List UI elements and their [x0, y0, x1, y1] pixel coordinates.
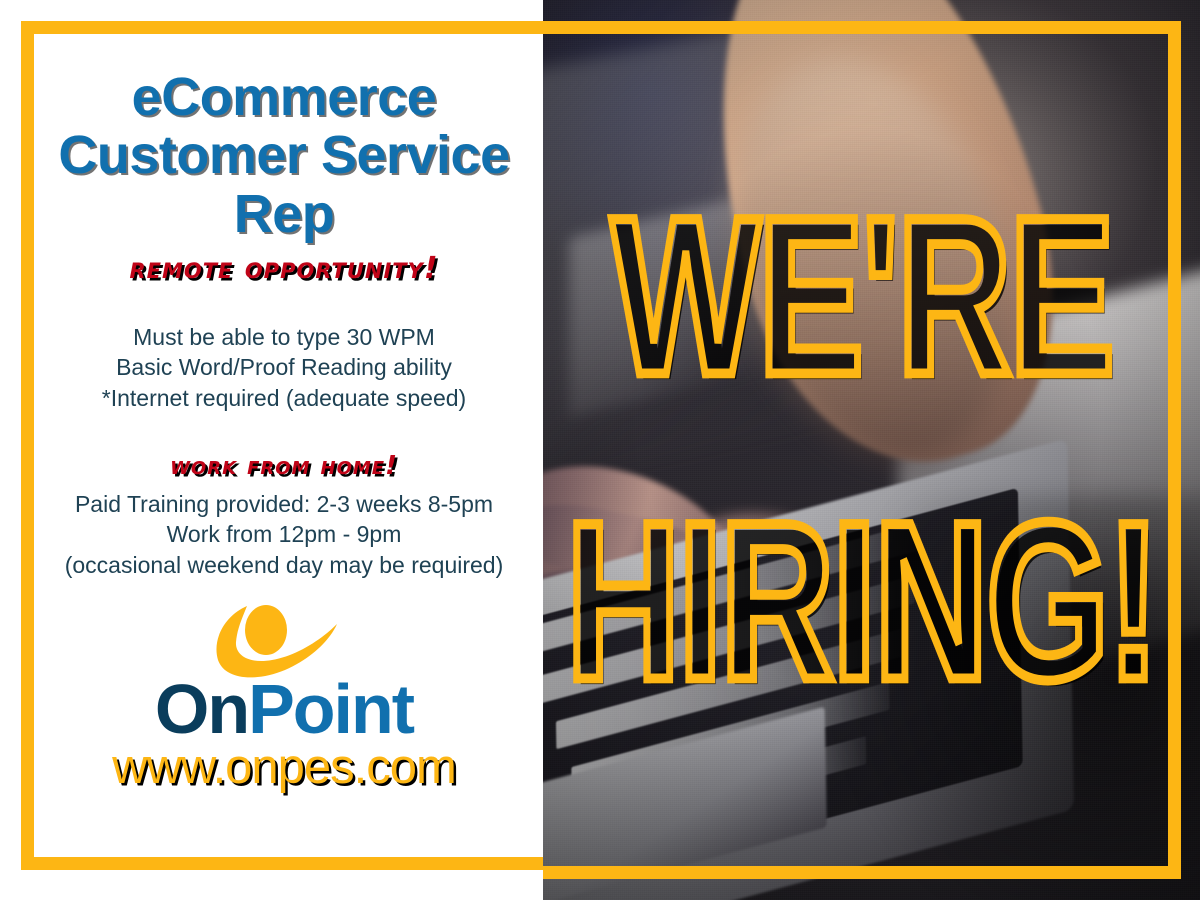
frame-border-right-bottom [543, 866, 1181, 879]
photo-panel [543, 0, 1200, 900]
onpoint-logo: OnPoint www.onpes.com [112, 602, 456, 793]
person-swoosh-icon [184, 602, 384, 680]
frame-border-left-top [21, 21, 543, 34]
logo-word-on: On [155, 670, 248, 748]
frame-border-left-bottom [21, 857, 543, 870]
work-from-home-subhead: Work From Home! [170, 451, 398, 481]
schedule-list: Paid Training provided: 2-3 weeks 8-5pm … [65, 489, 504, 580]
schedule-item: (occasional weekend day may be required) [65, 550, 504, 580]
logo-word-point: Point [248, 670, 413, 748]
poster-content: eCommerce Customer Service Rep Remote Op… [34, 34, 534, 857]
job-posting-poster: eCommerce Customer Service Rep Remote Op… [0, 0, 1200, 900]
schedule-item: Paid Training provided: 2-3 weeks 8-5pm [65, 489, 504, 519]
frame-border-right-side [1168, 21, 1181, 879]
requirements-list: Must be able to type 30 WPM Basic Word/P… [102, 322, 466, 413]
remote-tagline: Remote Opportunity! [129, 251, 438, 286]
frame-border-right-top [543, 21, 1181, 34]
logo-wordmark: OnPoint [155, 674, 413, 744]
website-url[interactable]: www.onpes.com [112, 742, 456, 793]
laptop-typing-photo [543, 0, 1200, 900]
frame-border-left-side [21, 21, 34, 870]
schedule-item: Work from 12pm - 9pm [65, 519, 504, 549]
requirement-item: Basic Word/Proof Reading ability [102, 352, 466, 382]
page-title: eCommerce Customer Service Rep [34, 68, 534, 243]
requirement-item: *Internet required (adequate speed) [102, 383, 466, 413]
requirement-item: Must be able to type 30 WPM [102, 322, 466, 352]
